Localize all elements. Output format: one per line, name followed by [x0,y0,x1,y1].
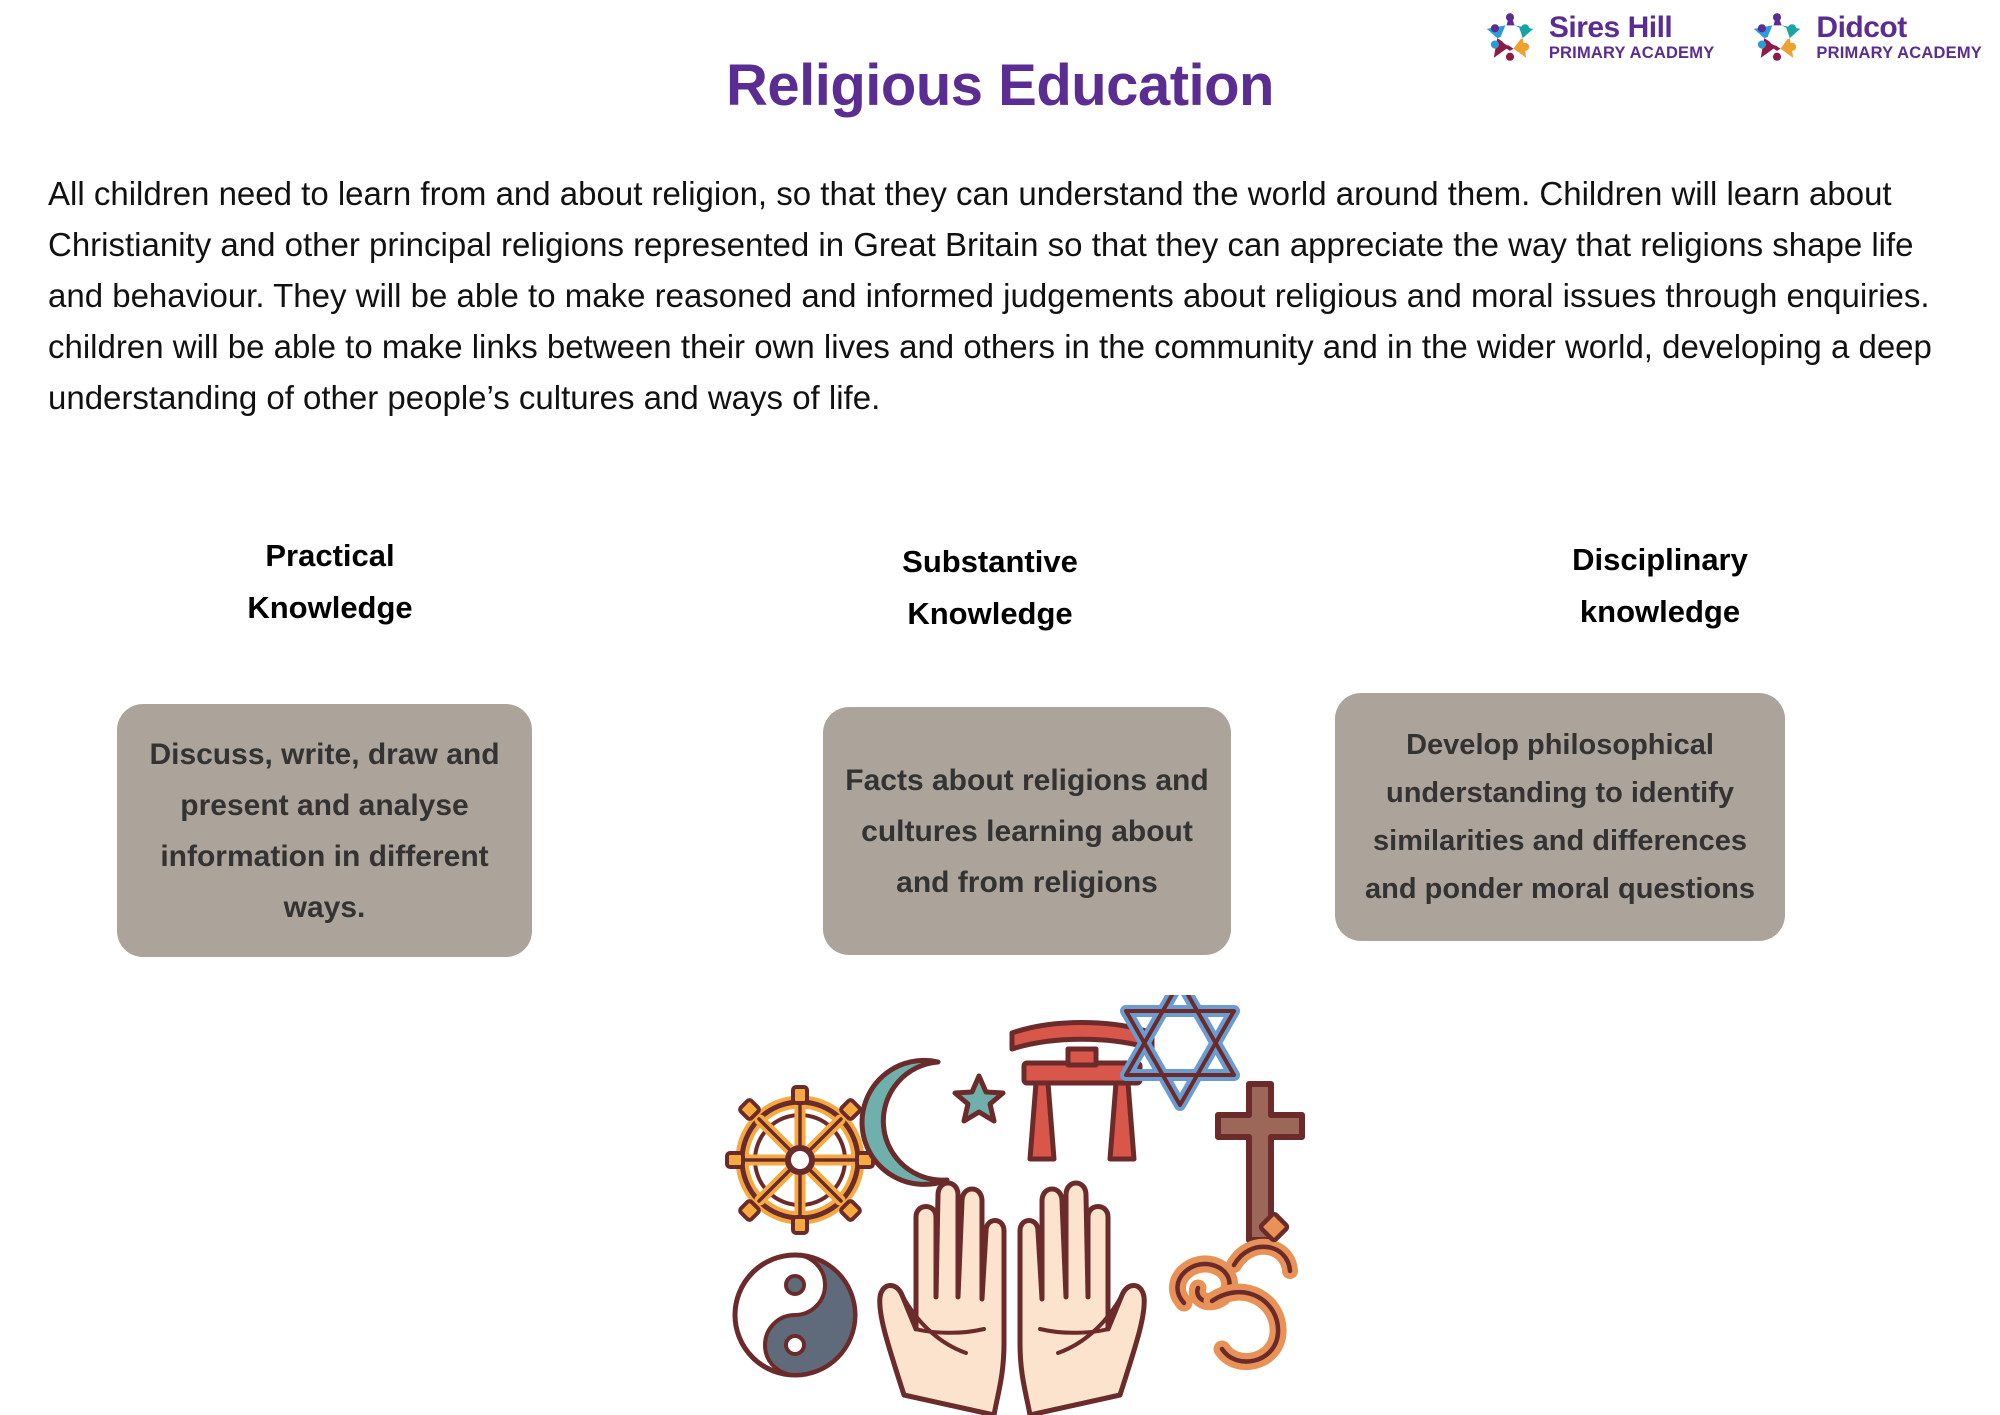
column-heading-line2: Knowledge [200,582,460,634]
column-disciplinary-knowledge: Disciplinary knowledge Develop philosoph… [1320,530,2000,957]
logo-name: Didcot [1816,13,1982,43]
star-of-david-icon [1126,995,1234,1105]
knowledge-box-substantive: Facts about religions and cultures learn… [823,707,1231,955]
crescent-star-icon [862,1060,1003,1184]
column-heading: Substantive Knowledge [660,530,1320,640]
christian-cross-icon [1218,1084,1302,1240]
knowledge-columns: Practical Knowledge Discuss, write, draw… [0,530,2000,957]
knowledge-box-practical: Discuss, write, draw and present and ana… [117,704,532,957]
om-icon [1177,1213,1290,1362]
knowledge-box-disciplinary: Develop philosophical understanding to i… [1335,693,1785,941]
yin-yang-icon [735,1255,855,1375]
column-heading: Disciplinary knowledge [1320,530,2000,638]
column-substantive-knowledge: Substantive Knowledge Facts about religi… [660,530,1320,957]
column-heading: Practical Knowledge [0,530,660,634]
page-title: Religious Education [0,52,2000,119]
column-heading-line1: Substantive [870,536,1110,588]
column-practical-knowledge: Practical Knowledge Discuss, write, draw… [0,530,660,957]
column-heading-line2: Knowledge [870,588,1110,640]
open-hands-icon [880,1183,1145,1415]
column-heading-line1: Disciplinary [1510,534,1810,586]
torii-gate-icon [1012,1023,1152,1160]
intro-paragraph: All children need to learn from and abou… [48,168,1968,423]
dharma-wheel-icon [727,1087,873,1233]
column-heading-line1: Practical [200,530,460,582]
column-heading-line2: knowledge [1510,586,1810,638]
logo-name: Sires Hill [1549,13,1715,43]
world-religions-illustration [690,995,1310,1415]
